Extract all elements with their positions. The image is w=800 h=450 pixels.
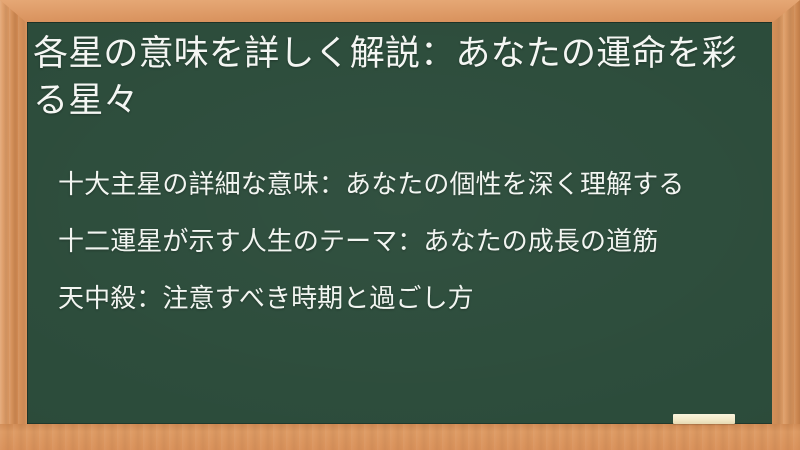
frame-bottom-ledge [0, 424, 800, 450]
chalkboard-surface: 各星の意味を詳しく解説：あなたの運命を彩る星々 十大主星の詳細な意味：あなたの個… [27, 22, 772, 424]
chalk-stick-icon [673, 414, 735, 424]
chalkboard-slide: 各星の意味を詳しく解説：あなたの運命を彩る星々 十大主星の詳細な意味：あなたの個… [0, 0, 800, 450]
frame-right-bevel [772, 0, 800, 450]
slide-title: 各星の意味を詳しく解説：あなたの運命を彩る星々 [33, 30, 745, 124]
list-item: 十二運星が示す人生のテーマ：あなたの成長の道筋 [58, 221, 748, 262]
list-item: 十大主星の詳細な意味：あなたの個性を深く理解する [58, 164, 748, 205]
list-item: 天中殺：注意すべき時期と過ごし方 [58, 278, 748, 319]
bullet-list: 十大主星の詳細な意味：あなたの個性を深く理解する 十二運星が示す人生のテーマ：あ… [58, 164, 748, 319]
frame-left-bevel [0, 0, 27, 450]
frame-top-bevel [0, 0, 800, 23]
